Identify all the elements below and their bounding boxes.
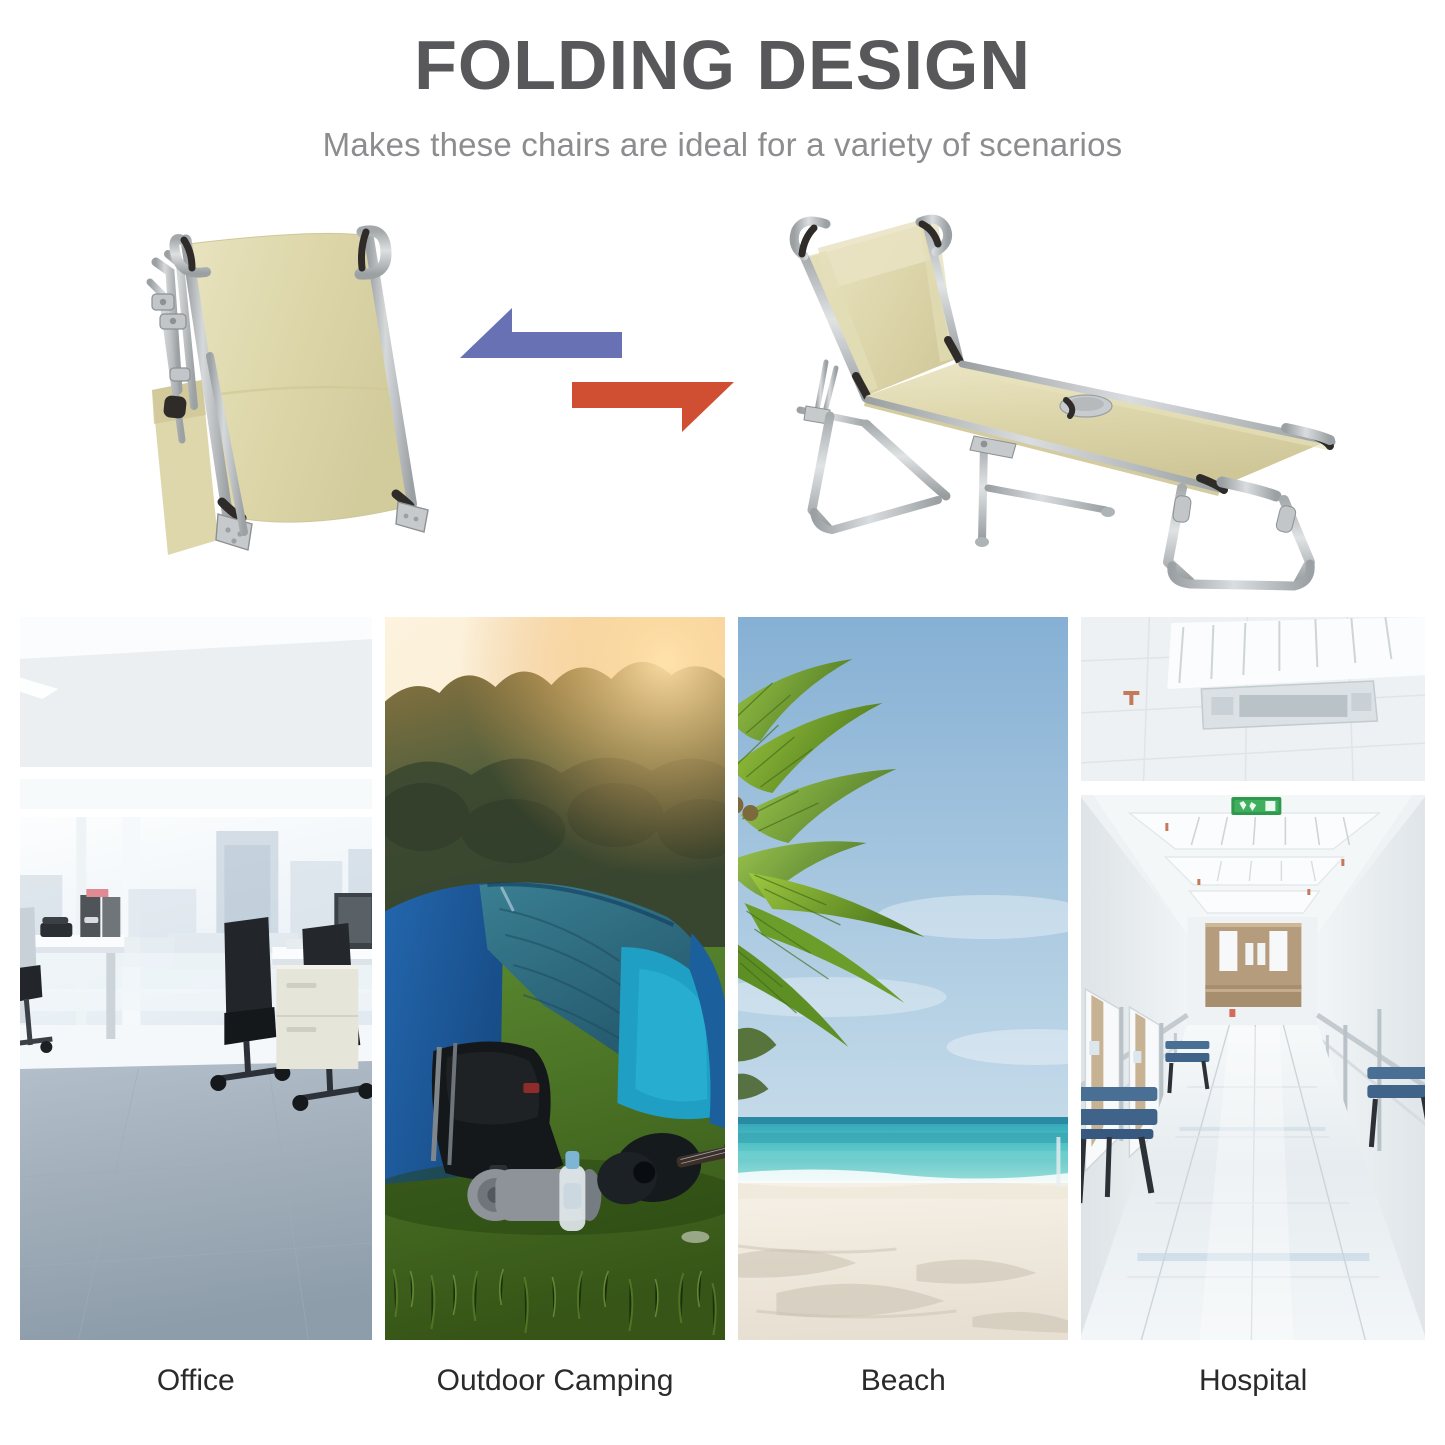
folded-lounger-image [110,210,500,610]
unfold-direction-arrow-shape [572,382,734,432]
page-subtitle: Makes these chairs are ideal for a varie… [0,104,1445,164]
unfolded-lounger-image [770,210,1360,610]
scenario-photo-hospital[interactable] [1081,617,1425,1340]
scenario-gallery [20,617,1425,1340]
header: FOLDING DESIGN Makes these chairs are id… [0,0,1445,210]
caption-beach: Beach [738,1352,1068,1422]
scenario-captions: Office Outdoor Camping Beach Hospital [20,1352,1425,1422]
scenario-photo-camping[interactable] [385,617,726,1340]
fold-direction-arrow-shape [460,308,622,358]
scenario-photo-office[interactable] [20,617,372,1340]
transform-arrows [450,210,770,610]
caption-hospital: Hospital [1081,1352,1425,1422]
scenario-photo-beach[interactable] [738,617,1068,1340]
page-title: FOLDING DESIGN [0,0,1445,104]
caption-camping: Outdoor Camping [385,1352,726,1422]
caption-office: Office [20,1352,372,1422]
product-hero [0,210,1445,610]
